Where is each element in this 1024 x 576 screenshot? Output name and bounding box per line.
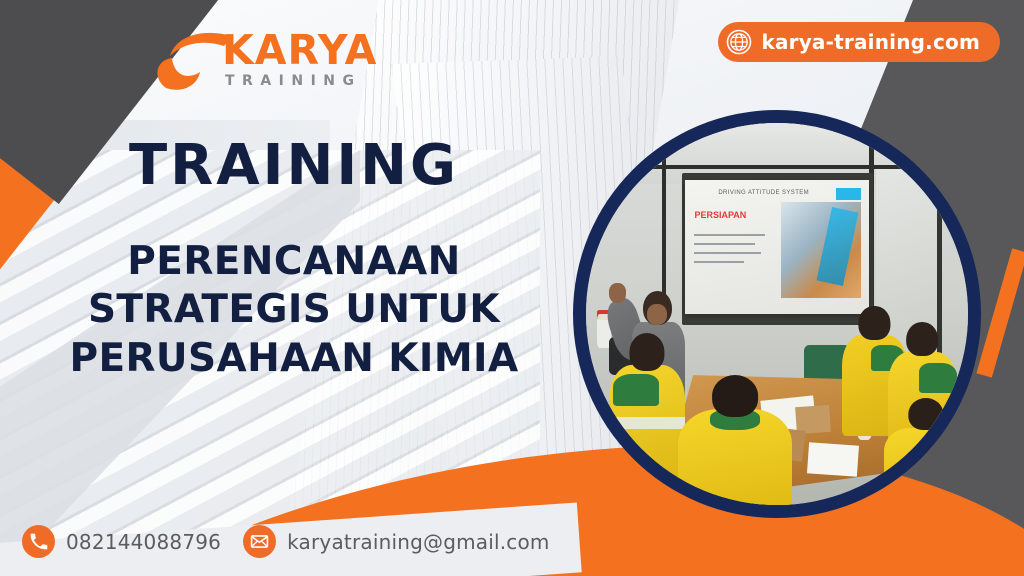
contact-bar: 082144088796 karyatraining@gmail.com (22, 525, 550, 558)
contact-phone[interactable]: 082144088796 (22, 525, 221, 558)
logo-wordmark: KARYA TRAINING (222, 30, 377, 89)
website-url-text: karya-training.com (761, 30, 980, 54)
photo-projector-screen: DRIVING ATTITUDE SYSTEM PERSIAPAN (685, 180, 868, 314)
contact-email[interactable]: karyatraining@gmail.com (243, 525, 550, 558)
photo-box-1 (795, 405, 831, 434)
photo-presenter-hand (609, 283, 626, 302)
photo-frame-horizontal (647, 165, 953, 169)
slide-corner-tag (836, 188, 862, 200)
subheadline-line-2: STRATEGIS UNTUK (44, 286, 544, 334)
brand-logo[interactable]: KARYA TRAINING (140, 22, 375, 98)
email-icon (243, 525, 276, 558)
headline-block: TRAINING (44, 138, 544, 194)
photo-participant-2 (678, 375, 793, 505)
website-badge[interactable]: karya-training.com (718, 22, 1000, 62)
circular-photo-frame: DRIVING ATTITUDE SYSTEM PERSIAPAN (573, 110, 981, 518)
subheadline-line-3: PERUSAHAAN KIMIA (44, 335, 544, 383)
photo-presenter-face (647, 304, 667, 325)
photo-participant-1 (609, 333, 685, 478)
slide-photo-thumbnail (781, 202, 862, 298)
email-address-text: karyatraining@gmail.com (287, 530, 550, 554)
photo-participant-5 (884, 398, 968, 505)
training-photo: DRIVING ATTITUDE SYSTEM PERSIAPAN (586, 123, 968, 505)
slide-heading-text: PERSIAPAN (694, 210, 746, 220)
slide-title-text: DRIVING ATTITUDE SYSTEM (718, 190, 809, 196)
logo-name: KARYA (222, 30, 377, 71)
phone-icon (22, 525, 55, 558)
logo-subtitle: TRAINING (225, 73, 377, 89)
subheadline-block: PERENCANAAN STRATEGIS UNTUK PERUSAHAAN K… (44, 238, 544, 383)
globe-icon (726, 29, 752, 55)
slide-bullets (694, 234, 771, 270)
photo-paper-2 (807, 442, 859, 476)
phone-number-text: 082144088796 (66, 530, 221, 554)
subheadline-line-1: PERENCANAAN (44, 238, 544, 286)
page-title: TRAINING (44, 138, 544, 194)
poster-canvas: KARYA TRAINING karya-training.com TRAINI… (0, 0, 1024, 576)
